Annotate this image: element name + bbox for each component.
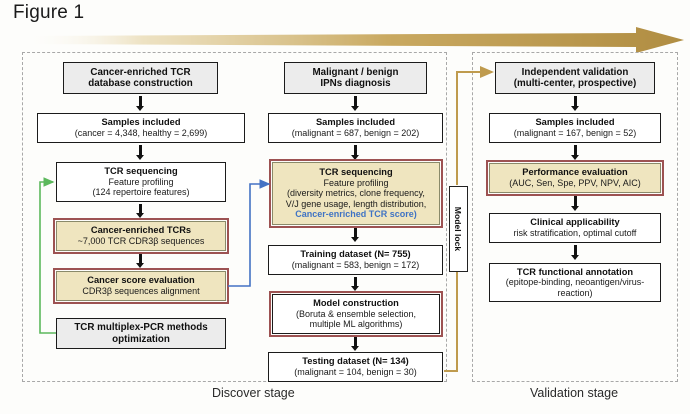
node-samples-included-validation[interactable]: Samples included (malignant = 167, benig… <box>489 113 661 143</box>
node-tcr-functional-annotation[interactable]: TCR functional annotation (epitope-bindi… <box>489 263 661 302</box>
node-line: multiple ML algorithms) <box>310 319 403 329</box>
node-line: TCR multiplex-PCR methods <box>74 322 207 333</box>
node-line-cancer-score: Cancer-enriched TCR score) <box>295 209 417 219</box>
node-line: ~7,000 TCR CDR3β sequences <box>78 236 205 246</box>
node-line: Cancer-enriched TCR <box>90 67 190 78</box>
node-line: V/J gene usage, length distribution, <box>286 199 427 209</box>
node-malignant-benign-ipns-diagnosis[interactable]: Malignant / benign IPNs diagnosis <box>284 62 427 94</box>
node-performance-evaluation[interactable]: Performance evaluation (AUC, Sen, Spe, P… <box>489 163 661 193</box>
node-cancer-enriched-tcr-database-construction[interactable]: Cancer-enriched TCR database constructio… <box>63 62 218 94</box>
node-clinical-applicability[interactable]: Clinical applicability risk stratificati… <box>489 213 661 243</box>
node-tcr-multiplex-pcr-optimization[interactable]: TCR multiplex-PCR methods optimization <box>56 318 226 349</box>
node-line: (124 repertoire features) <box>92 187 189 197</box>
node-line: (malignant = 687, benign = 202) <box>292 128 420 138</box>
arrow-down-icon <box>136 204 145 219</box>
node-line: CDR3β sequences alignment <box>82 286 199 296</box>
node-independent-validation[interactable]: Independent validation (multi-center, pr… <box>495 62 655 94</box>
node-line: (epitope-binding, neoantigen/virus- <box>506 277 645 287</box>
node-line: Feature profiling <box>323 178 388 188</box>
node-line: TCR sequencing <box>319 167 392 178</box>
node-line: Feature profiling <box>108 177 173 187</box>
timeline-arrow-icon <box>24 27 684 53</box>
node-line: Testing dataset (N= 134) <box>302 356 409 367</box>
discover-stage-label: Discover stage <box>212 386 295 400</box>
node-line: IPNs diagnosis <box>320 78 390 89</box>
node-line: Model construction <box>313 298 399 309</box>
node-line: (multi-center, prospective) <box>514 78 637 89</box>
node-testing-dataset[interactable]: Testing dataset (N= 134) (malignant = 10… <box>268 352 443 382</box>
node-line: (malignant = 167, benign = 52) <box>514 128 637 138</box>
arrow-down-icon <box>571 145 580 161</box>
node-line: Samples included <box>316 117 395 128</box>
node-model-construction[interactable]: Model construction (Boruta & ensemble se… <box>272 294 440 334</box>
node-cancer-score-evaluation[interactable]: Cancer score evaluation CDR3β sequences … <box>56 271 226 301</box>
arrow-down-icon <box>571 245 580 261</box>
node-line: Clinical applicability <box>530 217 619 228</box>
node-tcr-sequencing-diagnosis[interactable]: TCR sequencing Feature profiling (divers… <box>272 162 440 225</box>
node-line: (malignant = 583, benign = 172) <box>292 260 420 270</box>
node-line: Malignant / benign <box>313 67 399 78</box>
node-line: (diversity metrics, clone frequency, <box>287 188 425 198</box>
node-line: Training dataset (N= 755) <box>300 249 410 260</box>
arrow-down-icon <box>351 228 360 243</box>
arrow-down-icon <box>136 145 145 161</box>
node-line: reaction) <box>557 288 592 298</box>
figure-canvas: Figure 1 Discover stage Validation stage… <box>0 0 690 414</box>
node-line: Cancer score evaluation <box>87 275 194 286</box>
node-samples-included-discover[interactable]: Samples included (cancer = 4,348, health… <box>37 113 245 143</box>
node-line: (Boruta & ensemble selection, <box>296 309 416 319</box>
arrow-down-icon <box>571 96 580 112</box>
node-line: (cancer = 4,348, healthy = 2,699) <box>75 128 208 138</box>
node-cancer-enriched-tcrs[interactable]: Cancer-enriched TCRs ~7,000 TCR CDR3β se… <box>56 221 226 251</box>
node-line: Performance evaluation <box>522 167 627 178</box>
node-line: risk stratification, optimal cutoff <box>514 228 637 238</box>
node-line: (malignant = 104, benign = 30) <box>294 367 417 377</box>
arrow-down-icon <box>351 96 360 112</box>
node-line: Independent validation <box>522 67 629 78</box>
arrow-down-icon <box>351 337 360 352</box>
node-line: Samples included <box>101 117 180 128</box>
arrow-down-icon <box>571 196 580 212</box>
arrow-down-icon <box>136 254 145 269</box>
validation-stage-label: Validation stage <box>530 386 618 400</box>
arrow-down-icon <box>136 96 145 112</box>
model-lock-badge: Model lock <box>449 186 468 272</box>
node-line: (AUC, Sen, Spe, PPV, NPV, AIC) <box>509 178 640 188</box>
node-line: TCR functional annotation <box>517 267 633 278</box>
node-tcr-sequencing-discover[interactable]: TCR sequencing Feature profiling (124 re… <box>56 162 226 202</box>
node-line: TCR sequencing <box>104 166 177 177</box>
node-line: optimization <box>112 334 170 345</box>
arrow-down-icon <box>351 145 360 161</box>
node-training-dataset[interactable]: Training dataset (N= 755) (malignant = 5… <box>268 245 443 275</box>
node-samples-included-diagnosis[interactable]: Samples included (malignant = 687, benig… <box>268 113 443 143</box>
arrow-down-icon <box>351 277 360 292</box>
node-line: database construction <box>88 78 193 89</box>
figure-title: Figure 1 <box>13 2 84 24</box>
node-line: Cancer-enriched TCRs <box>91 225 191 236</box>
model-lock-label: Model lock <box>454 207 464 251</box>
node-line: Samples included <box>535 117 614 128</box>
